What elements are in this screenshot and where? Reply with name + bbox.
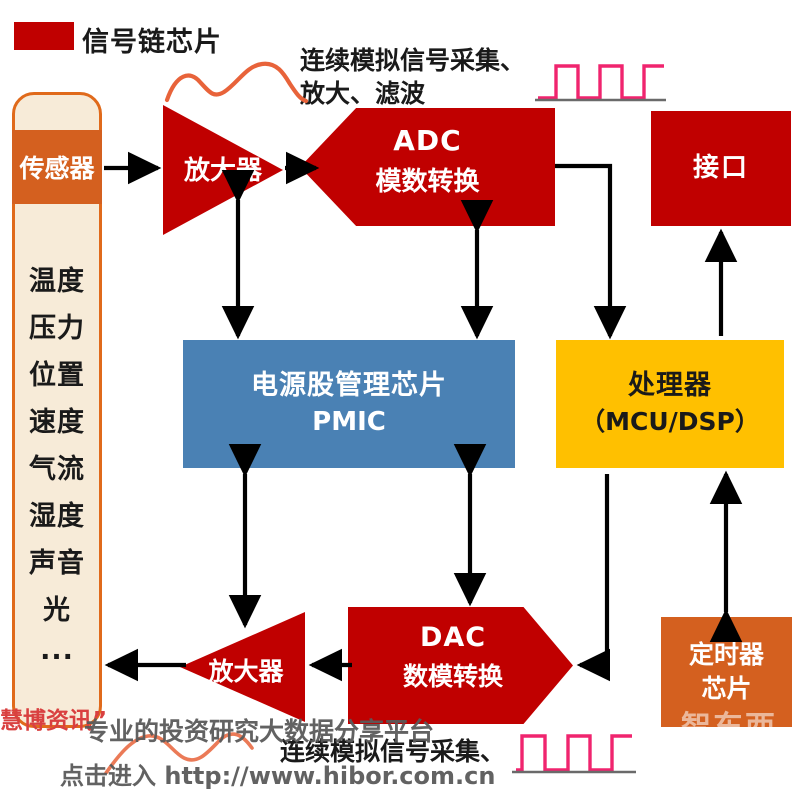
processor-block: 处理器 （MCU/DSP） [556, 340, 784, 468]
watermark-brand-text: 慧博资讯 [0, 708, 92, 734]
amplifier-top-label: 放大器 [163, 150, 283, 187]
pmic-label-line1: 电源股管理芯片 [251, 370, 447, 403]
list-item: 速度 [29, 399, 85, 446]
pmic-label-line2: PMIC [312, 407, 386, 439]
list-item: 气流 [29, 446, 85, 493]
interface-label: 接口 [693, 153, 749, 185]
list-item: ··· [40, 634, 74, 681]
adc-label: ADC 模数转换 [300, 124, 555, 198]
legend-color-swatch [14, 22, 74, 50]
watermark-logo-domain: zhidx.com [666, 740, 792, 750]
adc-label-line1: ADC [300, 124, 555, 157]
analog-wave-icon [167, 64, 306, 101]
dac-label-line1: DAC [348, 622, 558, 653]
sensor-block: 传感器 [12, 130, 102, 204]
adc-label-line2: 模数转换 [300, 161, 555, 198]
sensor-block-label: 传感器 [19, 149, 94, 185]
list-item: 温度 [29, 258, 85, 305]
list-item: 压力 [29, 305, 85, 352]
sensor-type-list: 温度 压力 位置 速度 气流 湿度 声音 光 ··· [12, 258, 102, 688]
list-item: 光 [43, 587, 71, 634]
list-item: 湿度 [29, 493, 85, 540]
annotation-line-1: 连续模拟信号采集、 [300, 44, 570, 77]
annotation-analog-chain: 连续模拟信号采集、 放大、滤波 [300, 44, 570, 110]
legend-label: 信号链芯片 [82, 20, 222, 59]
arrow-processor-to-dac [580, 474, 607, 665]
annotation-line-2: 放大、滤波 [300, 77, 570, 110]
watermark-cta[interactable]: 点击进入 [60, 762, 156, 790]
dac-label: DAC 数模转换 [348, 622, 558, 693]
timer-label-line1: 定时器 [689, 640, 764, 671]
interface-block: 接口 [651, 111, 791, 226]
processor-label-line2: （MCU/DSP） [580, 407, 760, 438]
dac-label-line2: 数模转换 [348, 657, 558, 693]
timer-label-line2: 芯片 [701, 674, 751, 705]
pmic-block: 电源股管理芯片 PMIC [183, 340, 515, 468]
watermark-zhidx-logo: 智东西 zhidx.com [666, 702, 792, 758]
watermark-link[interactable]: http://www.hibor.com.cn [164, 762, 495, 790]
amplifier-bottom-label: 放大器 [186, 652, 306, 688]
processor-label-line1: 处理器 [628, 370, 712, 403]
watermark-tagline: 专业的投资研究大数据分享平台 [84, 712, 434, 748]
diagram-canvas: 信号链芯片 传感器 温度 压力 位置 速度 气流 湿度 声音 光 ··· 连续模… [0, 0, 800, 774]
list-item: 位置 [29, 352, 85, 399]
list-item: 声音 [29, 540, 85, 587]
arrow-adc-to-processor [555, 166, 610, 336]
